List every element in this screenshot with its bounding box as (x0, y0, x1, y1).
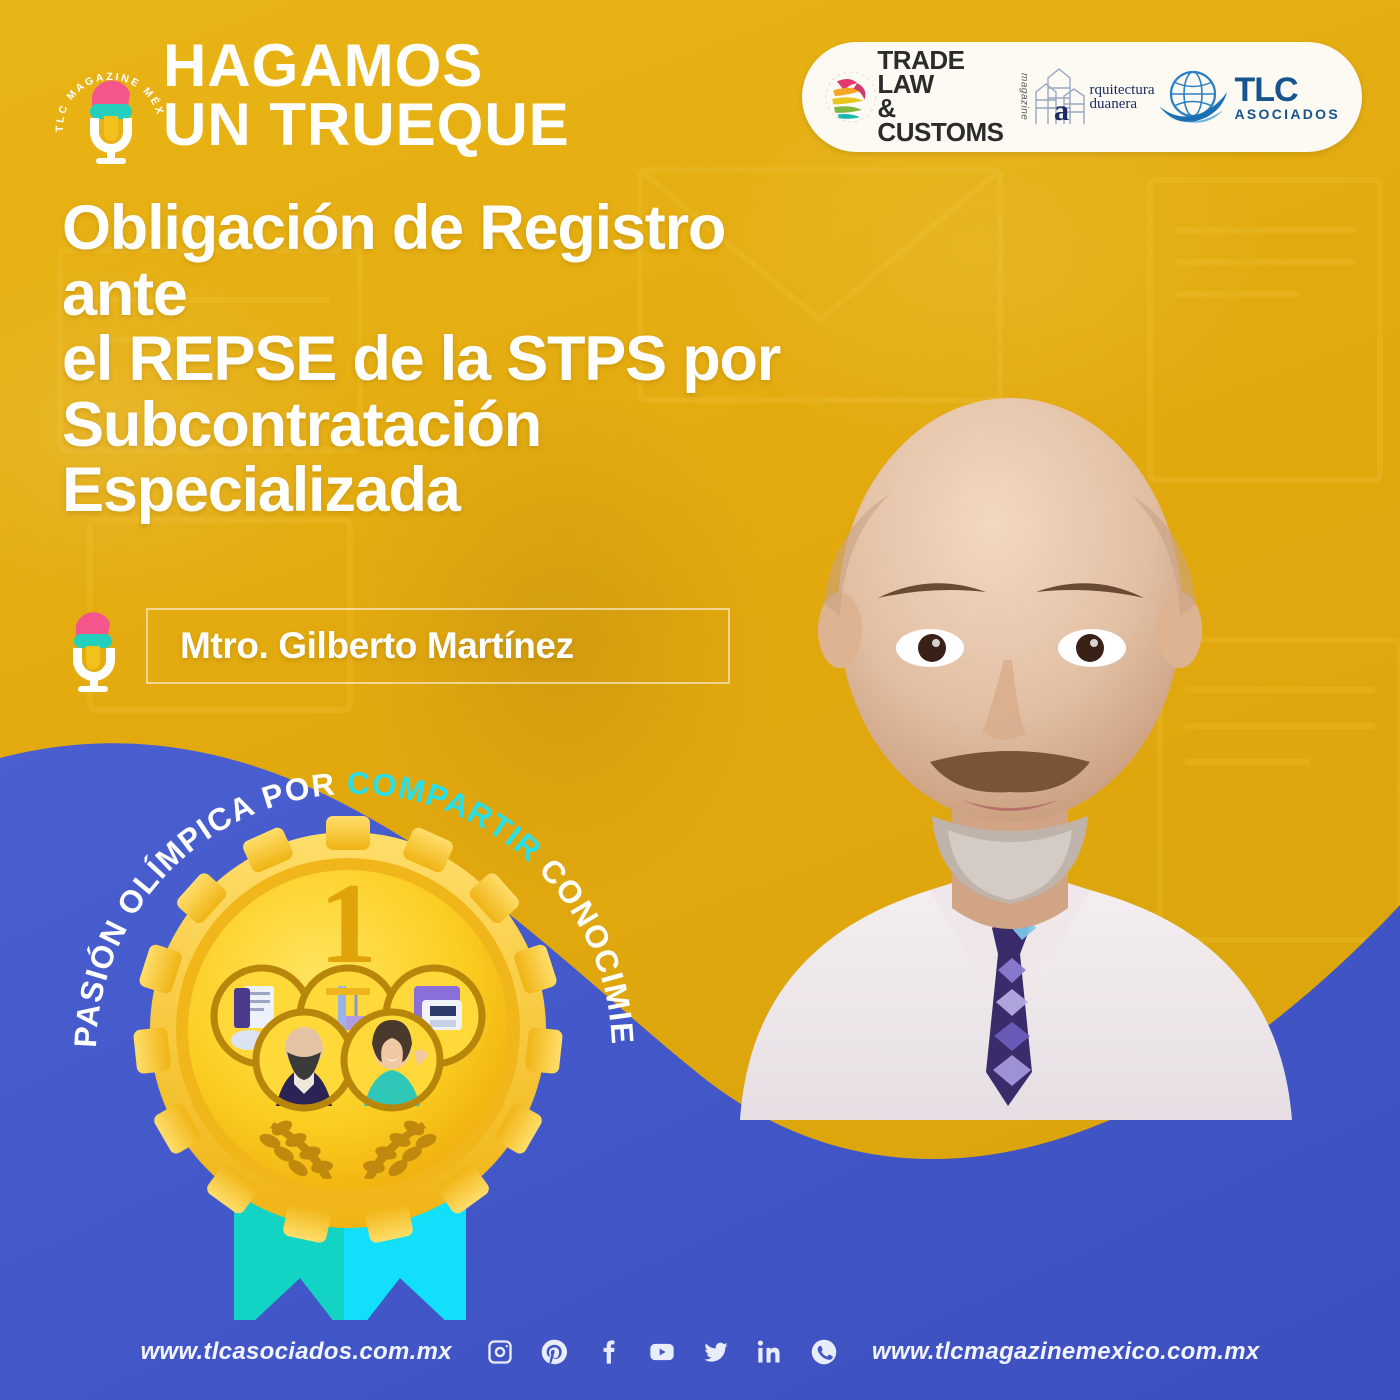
speaker-portrait (680, 330, 1340, 1120)
tlc-wordmark: TLC ASOCIADOS (1235, 73, 1341, 121)
headline-line-1: Obligación de Registro ante (62, 196, 862, 327)
footer-url-left[interactable]: www.tlcasociados.com.mx (140, 1338, 451, 1366)
brand-header: TLC MAGAZINE MÉXICO HAGAMOS UN TRUEQUE (38, 30, 678, 170)
tlc-line1: TLC (1235, 73, 1341, 107)
arquitectura-line2: duanera (1090, 97, 1155, 111)
slogan-part-4: VALIOSOS (38, 700, 51, 707)
trade-law-wordmark: TRADE LAW & CUSTOMS (877, 49, 1016, 145)
show-title: HAGAMOS UN TRUEQUE (163, 38, 570, 152)
logo-trade-law-customs[interactable]: TRADE LAW & CUSTOMS magazine (824, 49, 1030, 145)
show-title-line1: HAGAMOS (163, 38, 570, 93)
sphere-ribbon-icon (824, 66, 877, 128)
partner-logos-pill: TRADE LAW & CUSTOMS magazine (802, 42, 1362, 152)
tlc-magazine-circle-logo: TLC MAGAZINE MÉXICO (46, 42, 174, 170)
logo-arquitectura-aduanera[interactable]: a rquitectura duanera (1030, 66, 1155, 128)
whatsapp-icon[interactable] (810, 1338, 838, 1366)
microphone-icon (90, 81, 132, 164)
arquitectura-line1: rquitectura (1090, 83, 1155, 97)
globe-swoosh-icon (1155, 64, 1231, 130)
footer-bar: www.tlcasociados.com.mx (0, 1304, 1400, 1400)
olympic-medal-badge: 1 (38, 700, 658, 1320)
speaker-name: Mtro. Gilberto Martínez (180, 625, 574, 667)
twitter-icon[interactable] (702, 1338, 730, 1366)
trade-law-line2: & CUSTOMS (877, 97, 1016, 145)
speaker-strip: Mtro. Gilberto Martínez (60, 600, 730, 692)
facebook-icon[interactable] (594, 1338, 622, 1366)
arquitectura-wordmark: rquitectura duanera (1090, 83, 1155, 112)
trade-law-line1: TRADE LAW (877, 49, 1016, 97)
linkedin-icon[interactable] (756, 1338, 784, 1366)
show-title-line2: UN TRUEQUE (163, 97, 570, 152)
poster-canvas: TLC MAGAZINE MÉXICO HAGAMOS UN TRUEQUE (0, 0, 1400, 1400)
pinterest-icon[interactable] (540, 1338, 568, 1366)
footer-url-right[interactable]: www.tlcmagazinemexico.com.mx (872, 1338, 1260, 1366)
microphone-icon (60, 596, 128, 696)
instagram-icon[interactable] (486, 1338, 514, 1366)
tlc-line2: ASOCIADOS (1235, 107, 1341, 121)
arquitectura-initial: a (1054, 94, 1069, 127)
social-icons (486, 1338, 838, 1366)
speaker-name-box: Mtro. Gilberto Martínez (146, 608, 730, 684)
youtube-icon[interactable] (648, 1338, 676, 1366)
buildings-icon: a (1030, 66, 1090, 128)
logo-tlc-asociados[interactable]: TLC ASOCIADOS (1155, 64, 1341, 130)
trade-law-magazine-suffix: magazine (1019, 73, 1030, 120)
